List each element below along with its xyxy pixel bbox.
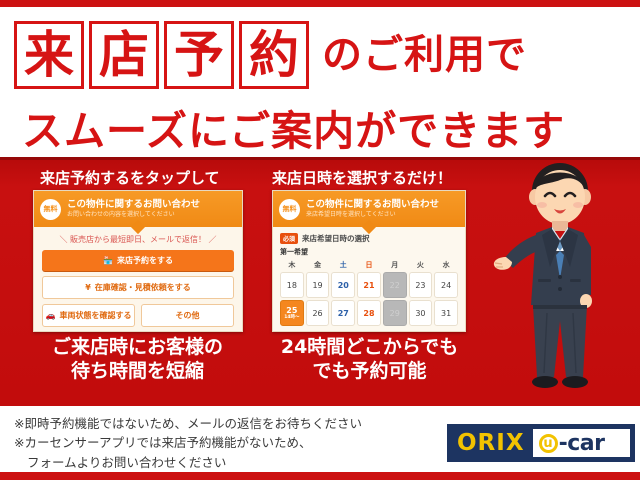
- other-label: その他: [176, 310, 200, 321]
- orix-wordmark: ORIX: [449, 426, 533, 460]
- calendar-day-selected[interactable]: 25 14時～: [280, 300, 304, 326]
- inquiry-header-title: この物件に関するお問い合わせ: [67, 200, 200, 211]
- weekday-header-row: 木 金 土 日 月 火 水: [280, 260, 458, 270]
- top-red-bar: [0, 0, 640, 7]
- headline-line-2: スムーズにご案内ができます: [22, 97, 622, 157]
- reserve-visit-label: 来店予約をする: [117, 255, 173, 266]
- calendar-header-title: この物件に関するお問い合わせ: [306, 200, 439, 211]
- calendar-day[interactable]: 21: [357, 272, 381, 298]
- weekday-tue: 火: [409, 260, 433, 270]
- headline-boxed-char-3: 予: [164, 21, 234, 89]
- inquiry-button-row-2: ¥ 在庫確認・見積依頼をする: [34, 276, 242, 304]
- calendar-day[interactable]: 20: [331, 272, 355, 298]
- right-benefit-caption: 24時間どこからでも でも予約可能: [262, 336, 477, 384]
- inquiry-form-mockup: 無料 この物件に関するお問い合わせ お問い合わせの内容を選択してください ＼ 販…: [33, 190, 243, 332]
- calendar-day[interactable]: 19: [306, 272, 330, 298]
- inquiry-button-row-1: 🏪 来店予約をする: [34, 250, 242, 276]
- ucar-text: -car: [559, 431, 605, 456]
- vehicle-condition-button[interactable]: 🚗 車両状態を確認する: [42, 304, 135, 327]
- calendar-day-disabled: 22: [383, 272, 407, 298]
- visit-reservation-banner: 来 店 予 約 のご利用で スムーズにご案内ができます 来店予約するをタップして…: [0, 0, 640, 480]
- calendar-header: 無料 この物件に関するお問い合わせ 来店希望日時を選択してください: [273, 191, 465, 227]
- selected-day-number: 25: [286, 306, 297, 315]
- right-column-title: 来店日時を選択するだけ！: [272, 167, 452, 188]
- inquiry-form-header: 無料 この物件に関するお問い合わせ お問い合わせの内容を選択してください: [34, 191, 242, 227]
- disclaimer-notes: ※即時予約機能ではないため、メールの返信をお待ちください ※カーセンサーアプリで…: [14, 414, 454, 472]
- orix-ucar-logo: ORIX u -car: [447, 424, 635, 462]
- calendar-day-disabled: 29: [383, 300, 407, 326]
- note-line-2: ※カーセンサーアプリでは来店予約機能がないため、: [14, 433, 454, 452]
- other-button[interactable]: その他: [141, 304, 234, 327]
- headline-line-1: 来 店 予 約 のご利用で: [14, 19, 626, 91]
- vehicle-condition-label: 車両状態を確認する: [59, 310, 131, 321]
- left-column-title: 来店予約するをタップして: [40, 167, 220, 188]
- headline-boxed-char-2: 店: [89, 21, 159, 89]
- weekday-mon: 月: [383, 260, 407, 270]
- car-icon: 🚗: [46, 311, 56, 320]
- inquiry-button-row-3: 🚗 車両状態を確認する その他: [34, 304, 242, 332]
- right-caption-line-1: 24時間どこからでも: [262, 336, 477, 360]
- calendar-day[interactable]: 30: [409, 300, 433, 326]
- headline-tail-text: のご利用で: [322, 35, 527, 75]
- weekday-fri: 金: [306, 260, 330, 270]
- note-line-1: ※即時予約機能ではないため、メールの返信をお待ちください: [14, 414, 454, 433]
- weekday-thu: 木: [280, 260, 304, 270]
- stock-quote-button[interactable]: ¥ 在庫確認・見積依頼をする: [42, 276, 234, 299]
- required-badge: 必須: [280, 233, 298, 244]
- note-line-3: フォームよりお問い合わせください: [14, 453, 454, 472]
- headline-boxed-char-1: 来: [14, 21, 84, 89]
- calendar-day[interactable]: 23: [409, 272, 433, 298]
- right-caption-line-2: でも予約可能: [262, 360, 477, 384]
- calendar-week-1: 18 19 20 21 22 23 24: [280, 272, 458, 298]
- calendar-day[interactable]: 27: [331, 300, 355, 326]
- calendar-body: 必須 来店希望日時の選択 第一希望 木 金 土 日 月 火 水 18 19 20…: [273, 227, 465, 326]
- weekday-wed: 水: [434, 260, 458, 270]
- calendar-header-subtitle: 来店希望日時を選択してください: [306, 211, 439, 218]
- left-caption-line-1: ご来店時にお客様の: [20, 336, 255, 360]
- calendar-mockup: 無料 この物件に関するお問い合わせ 来店希望日時を選択してください 必須 来店希…: [272, 190, 466, 332]
- calendar-day[interactable]: 18: [280, 272, 304, 298]
- calendar-day[interactable]: 26: [306, 300, 330, 326]
- reserve-visit-button[interactable]: 🏪 来店予約をする: [42, 250, 234, 271]
- weekday-sat: 土: [331, 260, 355, 270]
- stock-quote-label: 在庫確認・見積依頼をする: [95, 282, 191, 293]
- ucar-wordmark: u -car: [533, 429, 630, 457]
- calendar-label-row: 必須 来店希望日時の選択: [280, 233, 458, 244]
- calendar-day[interactable]: 31: [434, 300, 458, 326]
- calendar-day[interactable]: 24: [434, 272, 458, 298]
- headline-boxed-char-4: 約: [239, 21, 309, 89]
- left-benefit-caption: ご来店時にお客様の 待ち時間を短縮: [20, 336, 255, 384]
- free-badge: 無料: [40, 199, 61, 220]
- store-icon: 🏪: [103, 256, 113, 265]
- left-caption-line-2: 待ち時間を短縮: [20, 360, 255, 384]
- salesman-illustration: [492, 155, 622, 405]
- free-badge: 無料: [279, 199, 300, 220]
- calendar-day[interactable]: 28: [357, 300, 381, 326]
- ucar-circle-u-icon: u: [539, 434, 558, 453]
- headline-section: 来 店 予 約 のご利用で スムーズにご案内ができます: [0, 7, 640, 157]
- calendar-week-2: 25 14時～ 26 27 28 29 30 31: [280, 300, 458, 326]
- inquiry-header-subtitle: お問い合わせの内容を選択してください: [67, 211, 200, 218]
- yen-icon: ¥: [85, 283, 91, 292]
- bottom-red-bar: [0, 472, 640, 480]
- selected-day-time: 14時～: [284, 316, 299, 321]
- weekday-sun: 日: [357, 260, 381, 270]
- calendar-section-label: 来店希望日時の選択: [302, 233, 370, 244]
- calendar-preference-label: 第一希望: [280, 247, 458, 257]
